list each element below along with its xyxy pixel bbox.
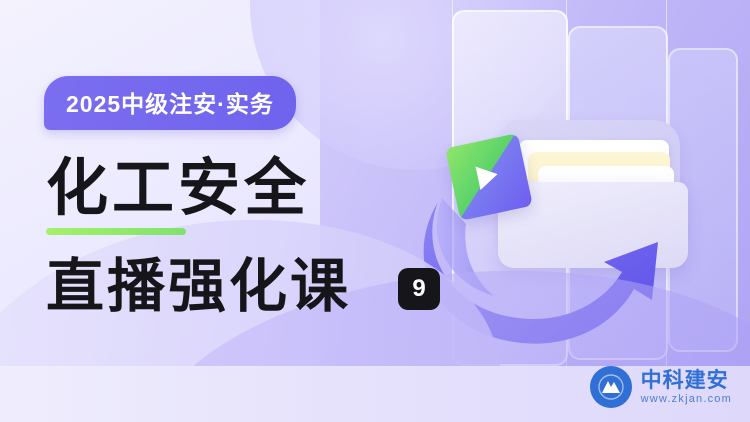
episode-number-badge: 9 (398, 268, 440, 310)
play-cube-icon (445, 133, 533, 221)
play-triangle-icon (476, 162, 501, 190)
course-poster: 2025中级注安·实务 化工安全 直播强化课 9 中科建安 www.zkjan.… (0, 0, 750, 422)
brand-text-block: 中科建安 www.zkjan.com (641, 369, 732, 406)
course-tag-badge: 2025中级注安·实务 (44, 76, 296, 130)
course-title-line-2: 直播强化课 (46, 258, 351, 316)
course-title-line-1: 化工安全 (46, 158, 310, 220)
brand-logo: 中科建安 www.zkjan.com (590, 366, 732, 408)
title-underline-highlight (46, 228, 186, 235)
brand-name: 中科建安 (641, 369, 732, 393)
mountain-logo-icon (590, 366, 632, 408)
brand-url: www.zkjan.com (641, 393, 732, 406)
